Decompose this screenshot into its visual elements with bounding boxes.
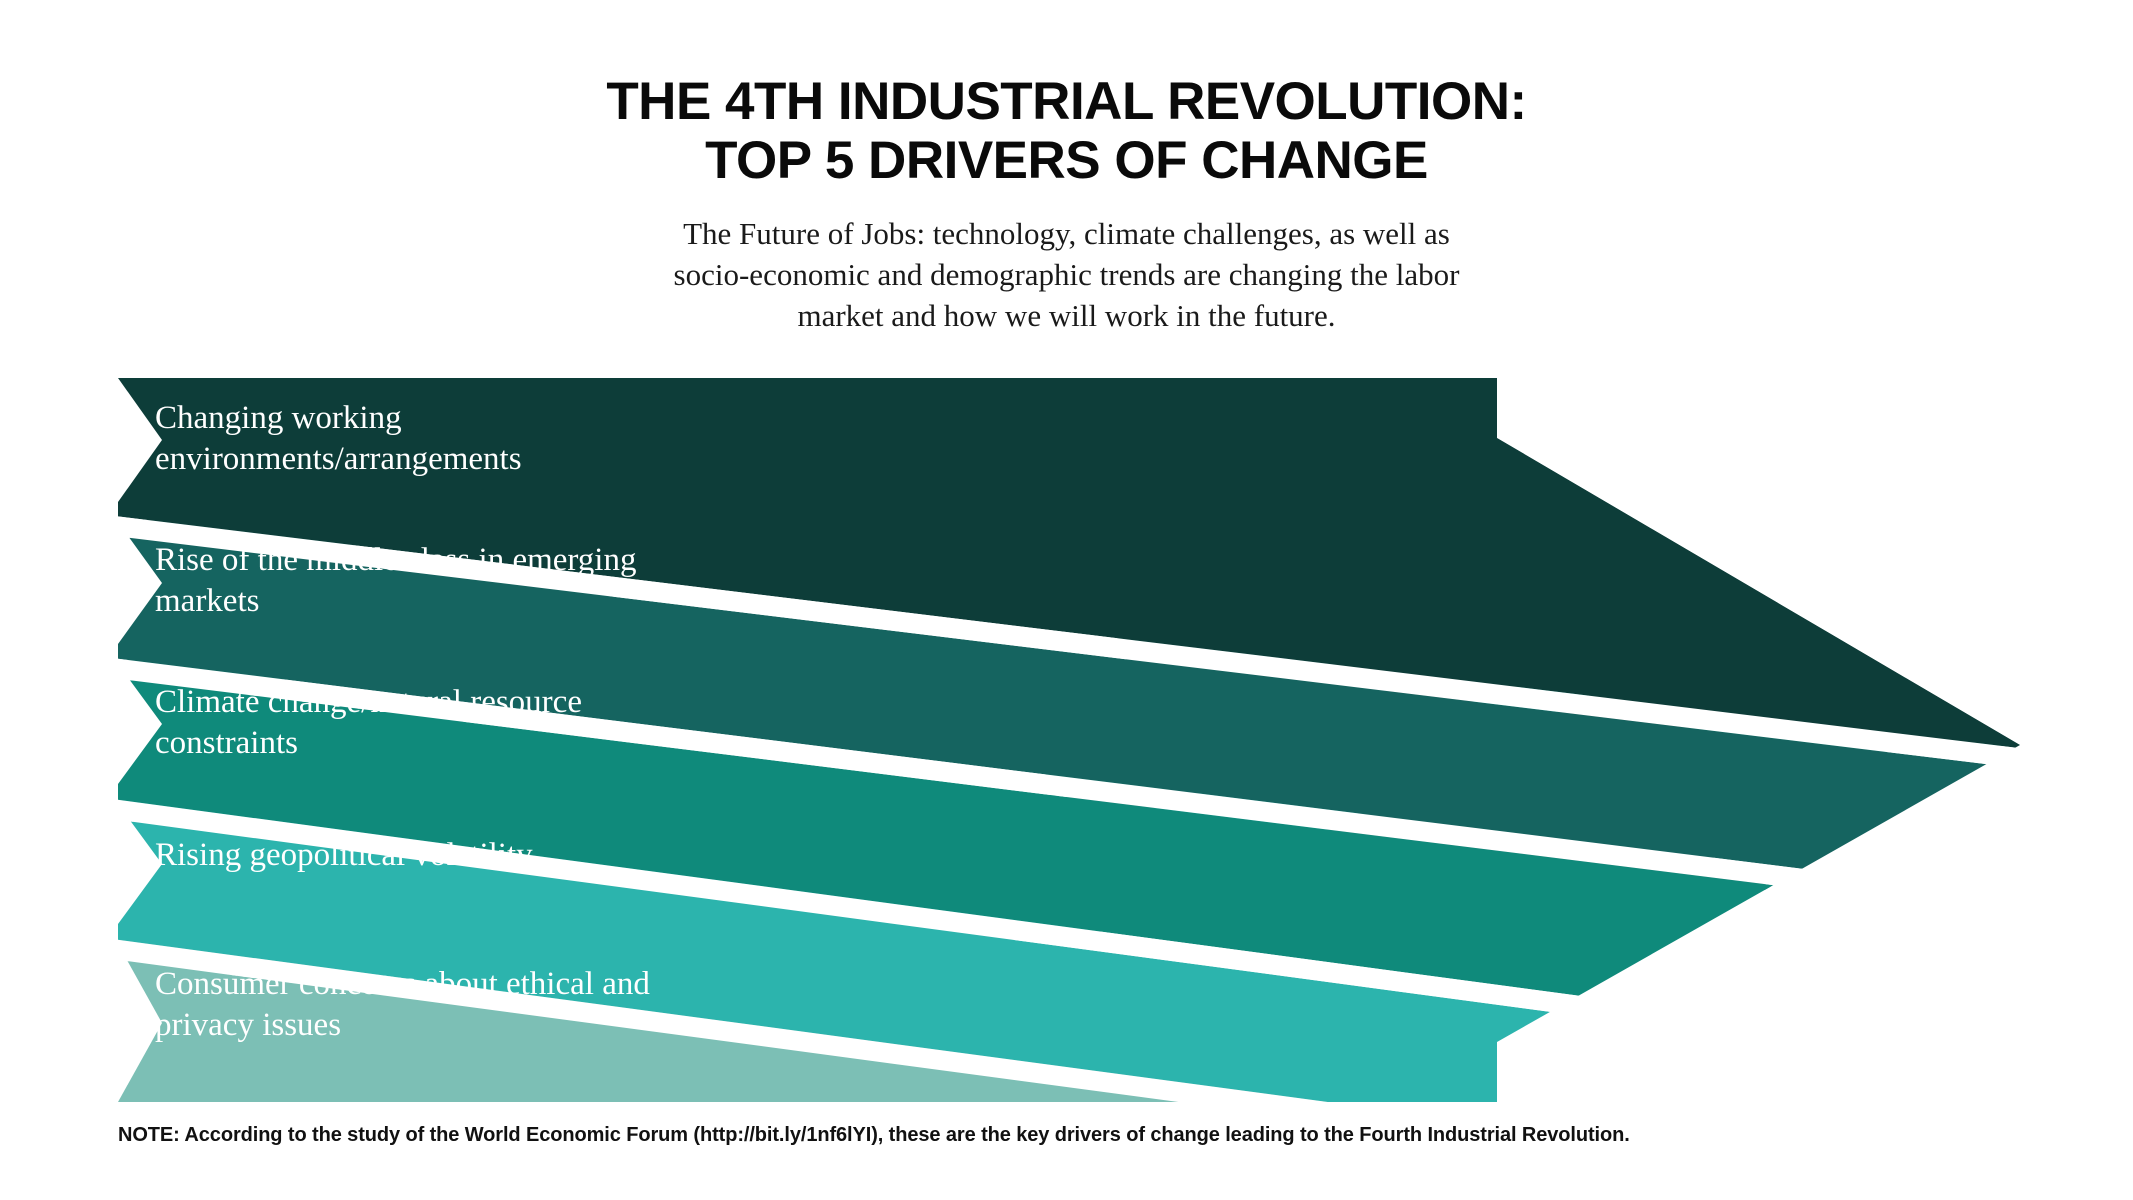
header: THE 4th INDUSTRIAL REVOLUTION: TOP 5 DRI… <box>0 0 2133 336</box>
overlay-label-1-line-1: Changing working <box>155 400 402 436</box>
overlay-label-1-line-2: environments/arrangements <box>155 441 522 477</box>
source-note: NOTE: According to the study of the Worl… <box>118 1122 2018 1148</box>
arrow-chart-overlay: Changing working environments/arrangemen… <box>0 370 2133 1110</box>
page-title: THE 4th INDUSTRIAL REVOLUTION: TOP 5 DRI… <box>0 0 2133 191</box>
overlay-label-2-line-2: markets <box>155 583 259 619</box>
title-line-2: TOP 5 DRIVERS OF CHANGE <box>0 131 2133 190</box>
infographic-poster: THE 4th INDUSTRIAL REVOLUTION: TOP 5 DRI… <box>0 0 2133 1200</box>
title-line-1: THE 4th INDUSTRIAL REVOLUTION: <box>606 72 1526 131</box>
drivers-arrow-chart: Changing working environments/arrangemen… <box>0 370 2133 1110</box>
overlay-label-5-line-2: privacy issues <box>155 1007 341 1043</box>
overlay-label-3-line-2: constraints <box>155 725 298 761</box>
page-subtitle: The Future of Jobs: technology, climate … <box>652 191 1482 337</box>
